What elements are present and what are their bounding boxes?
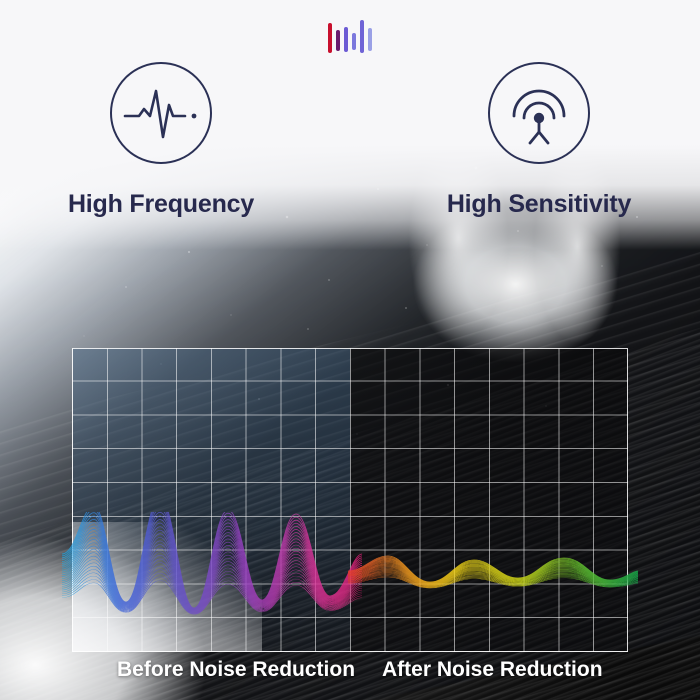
logo-bar-3 xyxy=(344,27,348,52)
pulse-waveform-icon xyxy=(110,62,212,164)
logo-bar-4 xyxy=(352,33,356,50)
logo-bar-1 xyxy=(328,23,332,53)
caption-before-noise-reduction: Before Noise Reduction xyxy=(117,658,355,682)
comparison-panel xyxy=(72,348,628,652)
feature-high-frequency: High Frequency xyxy=(46,62,276,219)
logo-bar-2 xyxy=(336,30,340,51)
feature-label-high-sensitivity: High Sensitivity xyxy=(447,190,631,219)
product-feature-graphic: High Frequency High Sensitivity xyxy=(0,0,700,700)
panel-tint-after xyxy=(350,348,628,652)
audio-bars-logo xyxy=(0,18,700,54)
panel-tint-before xyxy=(72,348,350,652)
caption-after-noise-reduction: After Noise Reduction xyxy=(382,658,603,682)
feature-label-high-frequency: High Frequency xyxy=(68,190,254,219)
feature-high-sensitivity: High Sensitivity xyxy=(424,62,654,219)
logo-bar-5 xyxy=(360,20,364,53)
logo-bar-6 xyxy=(368,28,372,51)
comparison-captions: Before Noise Reduction After Noise Reduc… xyxy=(0,658,700,688)
signal-antenna-icon xyxy=(488,62,590,164)
feature-row: High Frequency High Sensitivity xyxy=(0,62,700,219)
